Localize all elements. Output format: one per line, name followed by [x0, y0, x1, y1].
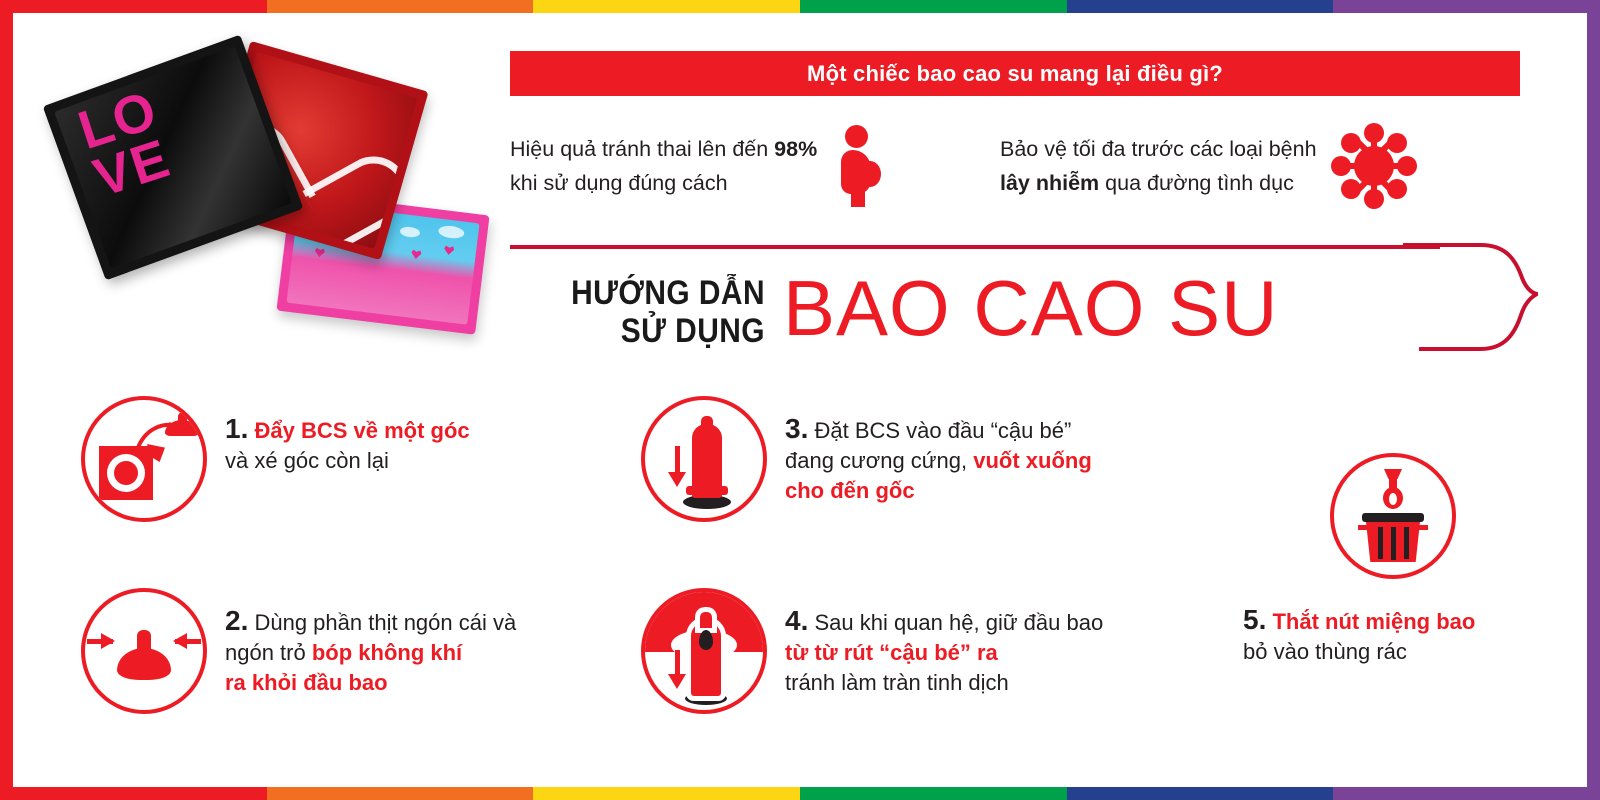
step-2-l1a: Dùng phần thịt ngón cái và [248, 610, 516, 635]
rainbow-seg-blue [1067, 787, 1334, 800]
step-4-l2a: từ từ rút “cậu bé” ra [785, 640, 998, 665]
rainbow-seg-yellow [533, 787, 800, 800]
benefit-percent: 98% [774, 137, 817, 161]
rainbow-seg-blue [1067, 0, 1334, 13]
benefit-bold: lây nhiễm [1000, 171, 1099, 195]
rainbow-border-bottom [0, 787, 1600, 800]
trash-bin-icon [1330, 453, 1456, 579]
step-4-number: 4. [785, 605, 808, 636]
step-5: 5. Thắt nút miệng bao bỏ vào thùng rác [1243, 453, 1543, 667]
banner-title: Một chiếc bao cao su mang lại điều gì? [807, 61, 1223, 87]
rainbow-seg-orange [267, 0, 534, 13]
step-2-number: 2. [225, 605, 248, 636]
rainbow-seg-green [800, 0, 1067, 13]
benefit-line2: khi sử dụng đúng cách [510, 171, 728, 195]
step-1-l2a: và xé góc còn lại [225, 448, 389, 473]
step-3-l2a: đang cương cứng, [785, 448, 973, 473]
condom-packets-photo: LO VE [58, 53, 478, 353]
rainbow-seg-purple [1333, 0, 1600, 13]
infographic-poster: LO VE Một chiếc bao cao su mang lại điều… [0, 0, 1600, 800]
benefit-effectiveness-text: Hiệu quả tránh thai lên đến 98% khi sử d… [510, 132, 817, 200]
rainbow-seg-red [0, 787, 267, 800]
packet-love-text: LO VE [73, 62, 262, 251]
step-2: 2. Dùng phần thịt ngón cái và ngón trỏ b… [81, 588, 621, 714]
rainbow-seg-yellow [533, 0, 800, 13]
step-2-l2a: ngón trỏ [225, 640, 312, 665]
step-4-text: 4. Sau khi quan hệ, giữ đầu bao từ từ rú… [785, 588, 1103, 698]
title-rule [510, 245, 1440, 249]
benefit-line2-post: qua đường tình dục [1099, 171, 1294, 195]
border-right [1587, 0, 1600, 800]
benefit-line1-pre: Hiệu quả tránh thai lên đến [510, 137, 774, 161]
step-5-number: 5. [1243, 604, 1266, 635]
step-5-l2a: bỏ vào thùng rác [1243, 639, 1407, 664]
title-small-line2: SỬ DỤNG [541, 312, 765, 350]
tear-packet-icon [81, 396, 207, 522]
step-5-text: 5. Thắt nút miệng bao bỏ vào thùng rác [1243, 587, 1543, 667]
step-4-l1a: Sau khi quan hệ, giữ đầu bao [808, 610, 1103, 635]
header-banner: Một chiếc bao cao su mang lại điều gì? [510, 51, 1520, 96]
step-1: 1. Đẩy BCS về một góc và xé góc còn lại [81, 396, 581, 522]
benefit-effectiveness: Hiệu quả tránh thai lên đến 98% khi sử d… [510, 118, 940, 213]
rainbow-seg-orange [267, 787, 534, 800]
step-3-l3a: cho đến gốc [785, 478, 915, 503]
step-3-l1a: Đặt BCS vào đầu “cậu bé” [808, 418, 1071, 443]
benefit-sti-text: Bảo vệ tối đa trước các loại bệnh lây nh… [1000, 132, 1317, 200]
border-left [0, 0, 13, 800]
rainbow-seg-green [800, 787, 1067, 800]
benefits-row: Hiệu quả tránh thai lên đến 98% khi sử d… [510, 118, 1520, 213]
step-1-number: 1. [225, 413, 248, 444]
rainbow-border-top [0, 0, 1600, 13]
step-2-text: 2. Dùng phần thịt ngón cái và ngón trỏ b… [225, 588, 516, 698]
title-small-line1: HƯỚNG DẪN [541, 274, 765, 312]
title-headline: BAO CAO SU [783, 268, 1278, 348]
withdraw-condom-icon [641, 588, 767, 714]
poster-stage: LO VE Một chiếc bao cao su mang lại điều… [13, 13, 1587, 787]
step-5-l1a: Thắt nút miệng bao [1266, 609, 1475, 634]
virus-icon [1331, 123, 1417, 209]
step-1-l1a: Đẩy BCS về một góc [248, 418, 469, 443]
title-subtitle: HƯỚNG DẪN SỬ DỤNG [541, 268, 765, 350]
pregnant-woman-icon [831, 125, 883, 207]
step-2-l3a: ra khỏi đầu bao [225, 670, 388, 695]
step-3: 3. Đặt BCS vào đầu “cậu bé” đang cương c… [641, 396, 1201, 522]
step-4: 4. Sau khi quan hệ, giữ đầu bao từ từ rú… [641, 588, 1221, 714]
step-3-text: 3. Đặt BCS vào đầu “cậu bé” đang cương c… [785, 396, 1092, 506]
step-3-l2b: vuốt xuống [973, 448, 1092, 473]
main-title: HƯỚNG DẪN SỬ DỤNG BAO CAO SU [510, 268, 1520, 363]
squeeze-air-icon [81, 588, 207, 714]
step-4-l3a: tránh làm tràn tinh dịch [785, 670, 1009, 695]
step-2-l2b: bóp không khí [312, 640, 462, 665]
benefit-sti-protection: Bảo vệ tối đa trước các loại bệnh lây nh… [1000, 118, 1520, 213]
rainbow-seg-red [0, 0, 267, 13]
step-3-number: 3. [785, 413, 808, 444]
roll-down-condom-icon [641, 396, 767, 522]
benefit-line1: Bảo vệ tối đa trước các loại bệnh [1000, 137, 1317, 161]
step-1-text: 1. Đẩy BCS về một góc và xé góc còn lại [225, 396, 470, 476]
rainbow-seg-purple [1333, 787, 1600, 800]
